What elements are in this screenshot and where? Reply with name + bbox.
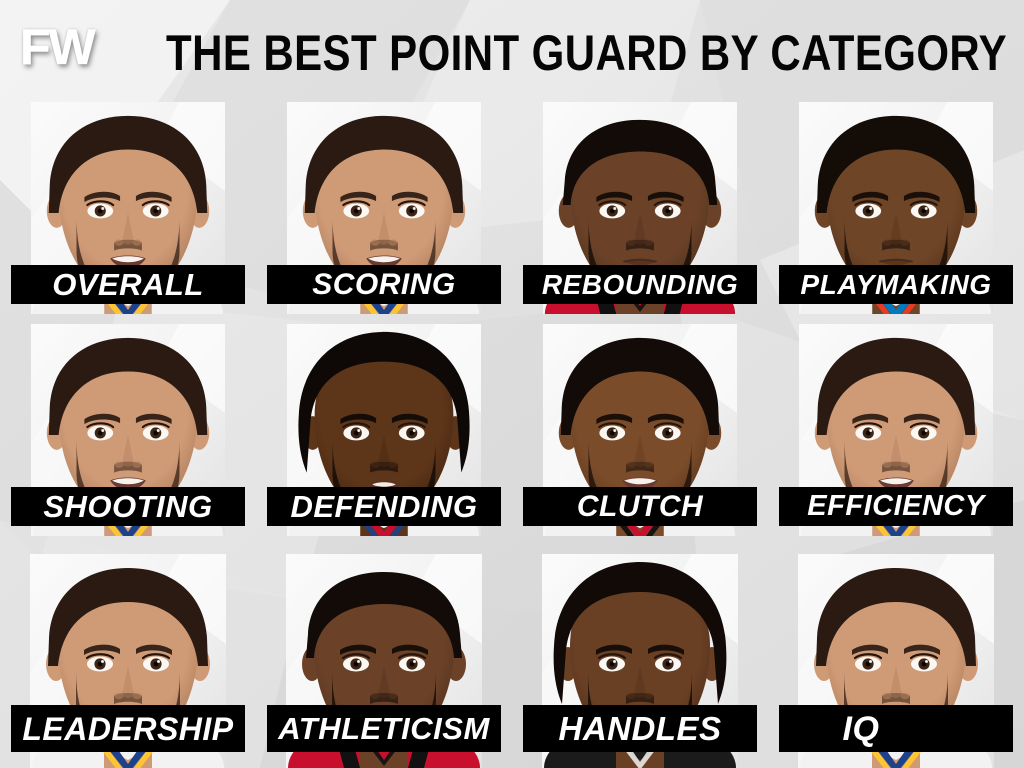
category-label-text: SHOOTING: [43, 491, 212, 522]
category-label-text: PLAYMAKING: [800, 271, 991, 299]
category-label-text: OVERALL: [52, 269, 204, 300]
category-label-bar-playmaking: PLAYMAKING: [779, 265, 1013, 304]
category-label-text: SCORING: [312, 270, 456, 300]
category-label-bar-rebounding: REBOUNDING: [523, 265, 757, 304]
header: FW THE BEST POINT GUARD BY CATEGORY: [0, 0, 1024, 92]
category-cell-defending[interactable]: DEFENDING: [256, 314, 512, 536]
category-label-text: HANDLES: [558, 712, 721, 745]
category-label-bar-athleticism: ATHLETICISM: [267, 705, 501, 752]
category-label-bar-clutch: CLUTCH: [523, 487, 757, 526]
category-cell-iq[interactable]: IQ: [768, 536, 1024, 768]
category-label-text: ATHLETICISM: [278, 713, 490, 744]
page-title: THE BEST POINT GUARD BY CATEGORY: [166, 27, 771, 79]
category-cell-clutch[interactable]: CLUTCH: [512, 314, 768, 536]
category-label-text: DEFENDING: [290, 491, 477, 522]
category-label-text: EFFICIENCY: [807, 492, 984, 521]
category-cell-playmaking[interactable]: PLAYMAKING: [768, 92, 1024, 314]
category-label-bar-scoring: SCORING: [267, 265, 501, 304]
category-label-bar-leadership: LEADERSHIP: [11, 705, 245, 752]
category-label-bar-overall: OVERALL: [11, 265, 245, 304]
fw-logo: FW: [20, 22, 94, 72]
category-label-bar-iq: IQ: [779, 705, 1013, 752]
category-cell-shooting[interactable]: SHOOTING: [0, 314, 256, 536]
category-label-text: IQ: [843, 712, 950, 746]
category-label-text: LEADERSHIP: [22, 713, 233, 745]
category-label-bar-efficiency: EFFICIENCY: [779, 487, 1013, 526]
category-cell-athleticism[interactable]: ATHLETICISM: [256, 536, 512, 768]
category-cell-rebounding[interactable]: REBOUNDING: [512, 92, 768, 314]
category-label-bar-handles: HANDLES: [523, 705, 757, 752]
category-cell-leadership[interactable]: LEADERSHIP: [0, 536, 256, 768]
category-label-bar-shooting: SHOOTING: [11, 487, 245, 526]
category-label-text: REBOUNDING: [542, 271, 738, 299]
category-label-text: CLUTCH: [577, 492, 703, 522]
category-cell-scoring[interactable]: SCORING: [256, 92, 512, 314]
category-label-bar-defending: DEFENDING: [267, 487, 501, 526]
category-grid: OVERALL: [0, 92, 1024, 768]
category-cell-efficiency[interactable]: EFFICIENCY: [768, 314, 1024, 536]
category-cell-handles[interactable]: HANDLES: [512, 536, 768, 768]
category-cell-overall[interactable]: OVERALL: [0, 92, 256, 314]
